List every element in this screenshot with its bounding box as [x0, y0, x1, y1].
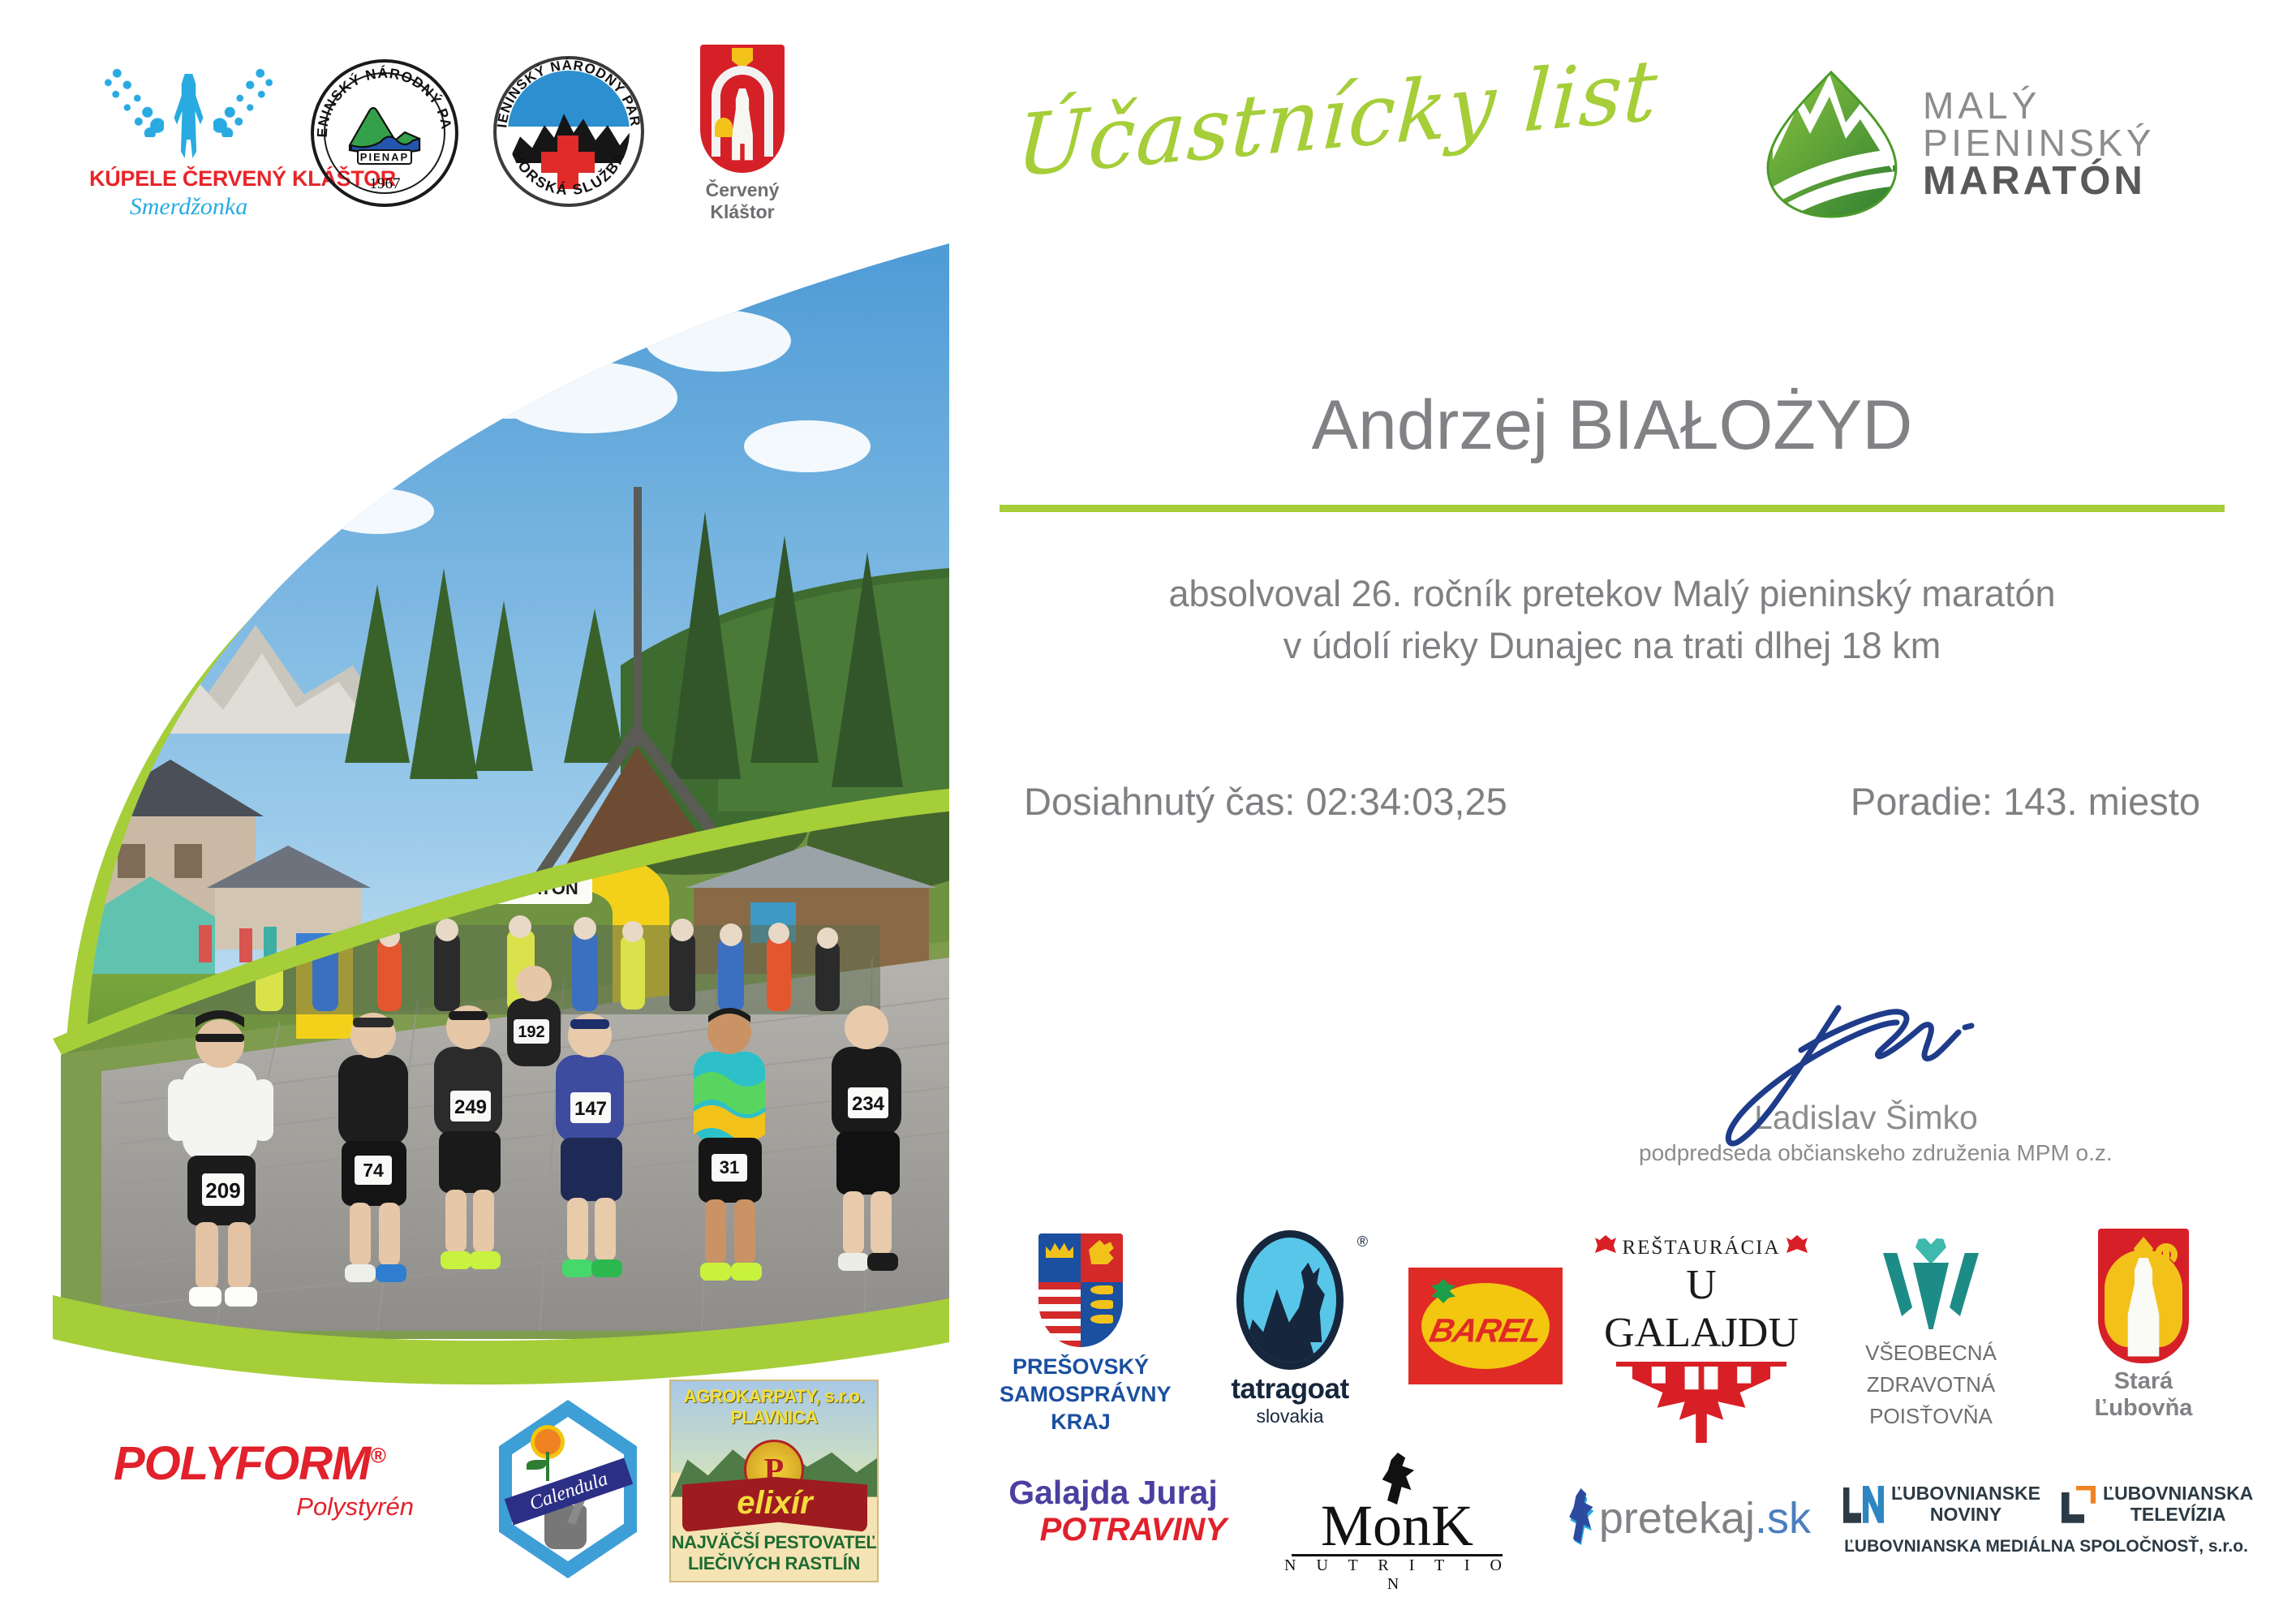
photo-collage-artwork: MALÝ PIENINSKÝ MARATÓN: [53, 243, 949, 1436]
presov-region-crest-icon: [1038, 1233, 1123, 1347]
photo-collage: MALÝ PIENINSKÝ MARATÓN: [53, 243, 949, 1436]
signature-block: Ladislav Šimko podpredseda občianskeho z…: [1639, 998, 2093, 1166]
svg-text:249: 249: [454, 1096, 487, 1118]
event-logo-line3: MARATÓN: [1923, 161, 2155, 201]
sponsor-calendula: Calendula: [499, 1400, 645, 1586]
page-title: Účastnícky list: [1012, 32, 1747, 243]
ln-monogram-icon: [1843, 1486, 1884, 1523]
sponsor-label-potraviny: POTRAVINY: [1000, 1512, 1227, 1548]
flame-ornament-left-icon: [1595, 1235, 1616, 1253]
svg-text:PIENAP: PIENAP: [360, 151, 409, 163]
sponsor-label-pretekaj: pretekaj: [1599, 1494, 1755, 1543]
sponsor-label-noviny-line2: NOVINY: [1891, 1505, 2040, 1526]
svg-text:209: 209: [205, 1178, 240, 1203]
sponsor-label-restauracia: REŠTAURÁCIA: [1622, 1237, 1780, 1259]
lubovnianska-televizia-logo: ĽUBOVNIANSKA TELEVÍZIA: [2062, 1483, 2253, 1526]
rank-placement: Poradie: 143. miesto: [1851, 779, 2200, 824]
certificate-body: absolvoval 26. ročník pretekov Malý pien…: [1000, 568, 2225, 672]
sponsor-label-footer-line1: NAJVÄČŠÍ PESTOVATEĽ: [671, 1532, 877, 1553]
sponsor-monk-nutrition: MonK N U T R I T I O N: [1275, 1453, 1519, 1594]
sponsor-label-elixir: elixír: [682, 1477, 867, 1529]
svg-text:HORSKÁ SLUŽBA: HORSKÁ SLUŽBA: [510, 149, 629, 199]
sponsors-row-2: Galajda Juraj POTRAVINY MonK N U T R I T…: [1000, 1453, 2265, 1607]
sponsor-label-monk: MonK: [1275, 1500, 1519, 1552]
sponsor-label-stara-lubovna: Stará Ľubovňa: [2062, 1368, 2225, 1422]
green-leaf-mountain-icon: [1765, 69, 1898, 219]
svg-text:192: 192: [518, 1023, 544, 1041]
sponsor-stara-lubovna: Stará Ľubovňa: [2062, 1229, 2225, 1422]
lubovnianske-noviny-logo: ĽUBOVNIANSKE NOVINY: [1843, 1483, 2040, 1526]
sponsor-label-polyform: POLYFORM: [114, 1437, 370, 1490]
svg-text:PIENINSKÝ NÁRODNÝ PARK: PIENINSKÝ NÁRODNÝ PARK: [487, 45, 643, 128]
event-logo: MALÝ PIENINSKÝ MARATÓN: [1765, 69, 2268, 219]
svg-text:147: 147: [574, 1098, 607, 1120]
svg-text:31: 31: [720, 1157, 739, 1177]
sponsor-label-agrokarpaty-header: AGROKARPATY, s.r.o. PLAVNICA: [671, 1386, 877, 1428]
event-logo-line2: PIENINSKÝ: [1923, 124, 2155, 161]
partner-label-cerveny-klastor: Červený Kláštor: [681, 179, 803, 223]
registered-mark: ®: [370, 1444, 385, 1468]
cerveny-klastor-crest-icon: [700, 45, 785, 173]
sponsor-vzp: VŠEOBECNÁ ZDRAVOTNÁ POISŤOVŇA: [1850, 1235, 2012, 1432]
top-partner-logos: KÚPELE ČERVENÝ KLÁŠTOR Smerdžonka PIENIN…: [89, 45, 941, 239]
partner-logo-kupele-cerveny-klastor: KÚPELE ČERVENÝ KLÁŠTOR Smerdžonka: [89, 45, 288, 221]
sponsor-label-medialna-spolocnost: ĽUBOVNIANSKA MEDIÁLNA SPOLOČNOSŤ, s.r.o.: [1843, 1537, 2249, 1556]
sponsor-label-sk-tld: .sk: [1755, 1494, 1811, 1543]
partner-logo-cerveny-klastor: Červený Kláštor: [681, 45, 803, 223]
partner-label-kupele: KÚPELE ČERVENÝ KLÁŠTOR: [89, 166, 288, 192]
folk-ornament-icon: [1632, 1367, 1770, 1443]
sponsor-agrokarpaty-elixir: AGROKARPATY, s.r.o. PLAVNICA P elixír NA…: [669, 1380, 879, 1582]
sponsor-label-noviny-line1: ĽUBOVNIANSKE: [1891, 1483, 2040, 1505]
sponsors-row-1: PREŠOVSKÝ SAMOSPRÁVNY KRAJ ® tatragoat s…: [1000, 1225, 2265, 1428]
result-row: Dosiahnutý čas: 02:34:03,25 Poradie: 143…: [1000, 779, 2225, 824]
stara-lubovna-crest-icon: [2098, 1229, 2189, 1363]
sponsor-label-line1: VŠEOBECNÁ: [1850, 1337, 2012, 1369]
sponsor-polyform: POLYFORM® Polystyrén: [114, 1436, 438, 1522]
sponsor-pretekaj-sk: pretekaj.sk: [1567, 1488, 1811, 1548]
sponsor-lubovnianska-medialna: ĽUBOVNIANSKE NOVINY ĽUBOVNIANSKA TELEVÍZ…: [1843, 1483, 2249, 1556]
horska-sluzba-text: PIENINSKÝ NÁRODNÝ PARK HORSKÁ SLUŽBA: [487, 45, 649, 219]
pienap-year: 1967: [306, 175, 464, 193]
flame-ornament-right-icon: [1786, 1235, 1808, 1253]
accent-divider: [1000, 505, 2225, 512]
partner-logo-pienap: PIENINSKÝ NÁRODNÝ PARK PIENAP 1967: [306, 45, 464, 219]
barel-clover-icon: BAREL: [1408, 1268, 1563, 1384]
svg-text:74: 74: [363, 1160, 384, 1181]
sponsor-label-line3: KRAJ: [1000, 1409, 1162, 1436]
sponsor-galajda-juraj: Galajda Juraj POTRAVINY: [1000, 1474, 1227, 1548]
sponsor-label-galajda: Galajda Juraj: [1000, 1474, 1227, 1512]
certificate-page: KÚPELE ČERVENÝ KLÁŠTOR Smerdžonka PIENIN…: [0, 0, 2296, 1623]
sponsor-label-barel: BAREL: [1426, 1311, 1545, 1350]
tatragoat-chamois-icon: [1236, 1230, 1344, 1370]
sponsor-sublabel-polystyren: Polystyrén: [114, 1492, 438, 1522]
finish-time: Dosiahnutý čas: 02:34:03,25: [1024, 779, 1507, 824]
event-logo-line1: MALÝ: [1923, 87, 2155, 124]
svg-text:234: 234: [852, 1093, 885, 1115]
sponsor-label-tv-line2: TELEVÍZIA: [2103, 1505, 2253, 1526]
registered-mark: ®: [1357, 1233, 1368, 1251]
body-line-2: v údolí rieky Dunajec na trati dlhej 18 …: [1000, 620, 2225, 672]
sponsor-label-u-galajdu: U GALAJDU: [1600, 1261, 1803, 1357]
sponsor-u-galajdu: REŠTAURÁCIA U GALAJDU: [1600, 1237, 1803, 1443]
sponsor-label-footer-line2: LIEČIVÝCH RASTLÍN: [671, 1553, 877, 1574]
sponsor-label-tatragoat: tatragoat: [1209, 1373, 1371, 1406]
sponsor-tatragoat: ® tatragoat slovakia: [1209, 1230, 1371, 1427]
sponsor-label-tv-line1: ĽUBOVNIANSKA: [2103, 1483, 2253, 1505]
sponsor-sublabel-nutrition: N U T R I T I O N: [1275, 1556, 1519, 1594]
sponsor-label-line2: ZDRAVOTNÁ: [1850, 1369, 2012, 1401]
handwritten-signature: [1639, 998, 2093, 1104]
sponsor-label-line1: PREŠOVSKÝ: [1000, 1354, 1162, 1381]
sponsor-label-line2: SAMOSPRÁVNY: [1000, 1381, 1162, 1409]
tv-square-icon: [2062, 1486, 2096, 1523]
sponsor-presovsky-kraj: PREŠOVSKÝ SAMOSPRÁVNY KRAJ: [1000, 1233, 1162, 1436]
sponsor-barel: BAREL: [1400, 1268, 1571, 1384]
participant-name: Andrzej BIAŁOŻYD: [1000, 385, 2225, 466]
sponsor-sublabel-slovakia: slovakia: [1209, 1406, 1371, 1427]
partner-sublabel-smerdzonka: Smerdžonka: [89, 193, 288, 221]
body-line-1: absolvoval 26. ročník pretekov Malý pien…: [1000, 568, 2225, 620]
sponsor-label-line3: POISŤOVŇA: [1850, 1401, 2012, 1432]
angel-water-wings-icon: [89, 45, 288, 166]
vzp-heart-icon: [1883, 1235, 1979, 1331]
two-runners-icon: [1567, 1488, 1594, 1548]
partner-logo-horska-sluzba: PIENINSKÝ NÁRODNÝ PARK HORSKÁ SLUŽBA: [487, 45, 649, 219]
